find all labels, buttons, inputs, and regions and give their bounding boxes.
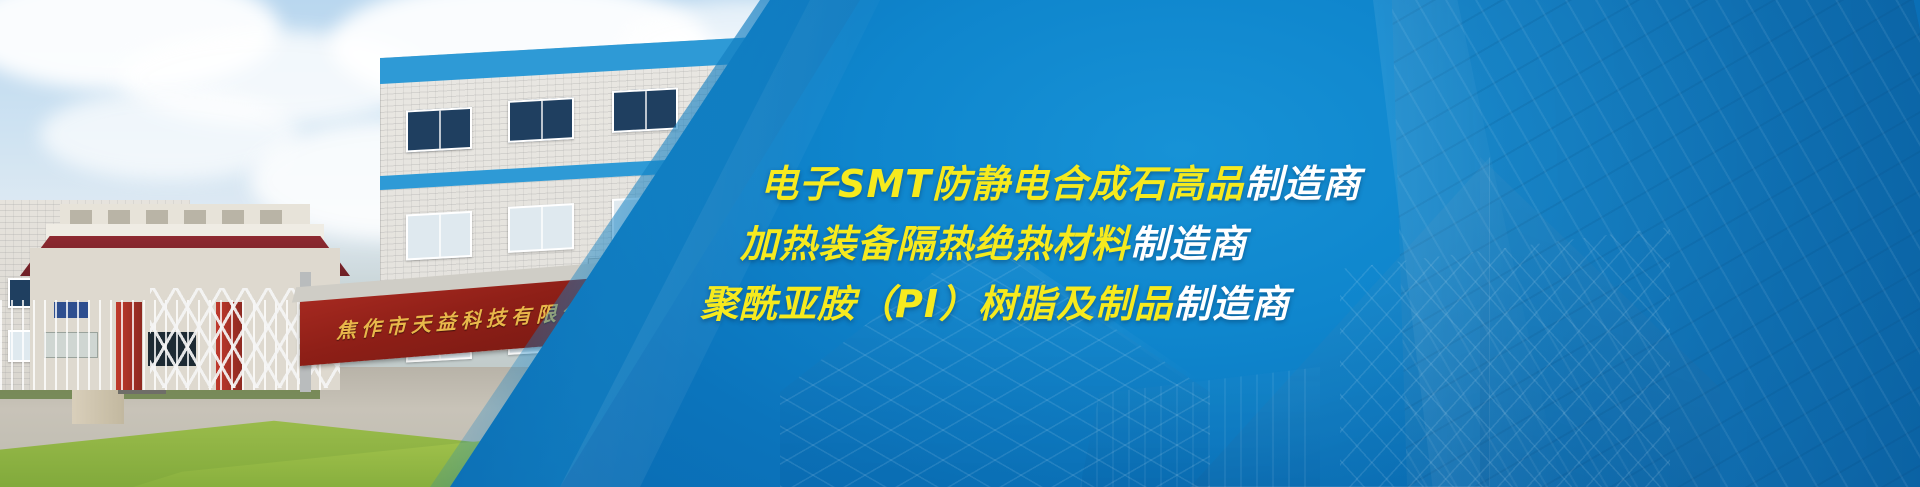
headline-3-suffix: 制造商 <box>1173 282 1290 326</box>
headline-2-suffix: 制造商 <box>1130 222 1247 266</box>
headline-1-highlight: 电子SMT防静电合成石高品 <box>760 162 1244 206</box>
hero-banner: 焦作市天益科技有限公司 电子SMT防静电合成石高品制造商 加热装备隔热绝热材料制… <box>0 0 1920 487</box>
headline-line-3: 聚酰亚胺（PI）树脂及制品制造商 <box>700 285 1620 323</box>
headline-block: 电子SMT防静电合成石高品制造商 加热装备隔热绝热材料制造商 聚酰亚胺（PI）树… <box>0 0 1920 487</box>
headline-line-1: 电子SMT防静电合成石高品制造商 <box>760 165 1620 203</box>
headline-1-suffix: 制造商 <box>1244 162 1361 206</box>
headline-3-highlight: 聚酰亚胺（PI）树脂及制品 <box>700 282 1173 326</box>
headline-2-highlight: 加热装备隔热绝热材料 <box>740 222 1130 266</box>
headline-line-2: 加热装备隔热绝热材料制造商 <box>740 225 1620 263</box>
